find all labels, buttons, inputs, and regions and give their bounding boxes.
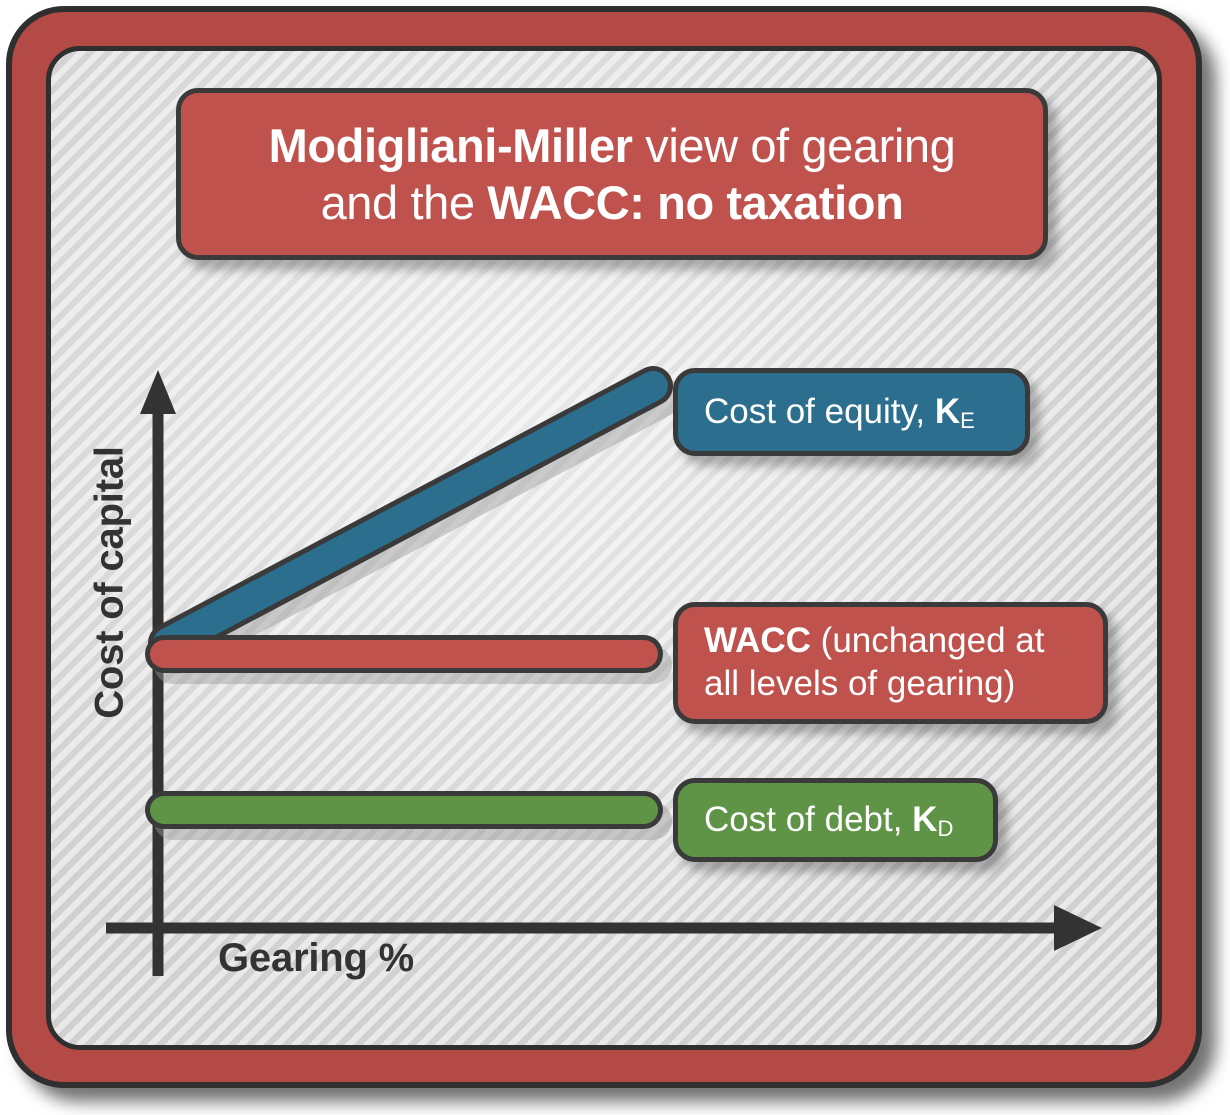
title-rest-1: view of gearing: [633, 119, 956, 172]
legend-cost-of-debt: Cost of debt, KD: [673, 778, 998, 862]
title-bold-1: Modigliani-Miller: [269, 119, 633, 172]
wacc-line-2: all levels of gearing): [704, 664, 1015, 703]
page-title: Modigliani-Miller view of gearing and th…: [269, 117, 956, 232]
equity-prefix: Cost of equity,: [704, 392, 935, 431]
x-axis-label: Gearing %: [218, 936, 414, 981]
legend-cost-of-equity-label: Cost of equity, KE: [704, 391, 975, 434]
title-bold-2: WACC: no taxation: [487, 176, 903, 229]
debt-prefix: Cost of debt,: [704, 800, 912, 839]
wacc-bold: WACC: [704, 621, 811, 660]
debt-symbol: K: [912, 800, 937, 839]
title-banner: Modigliani-Miller view of gearing and th…: [176, 88, 1048, 260]
legend-wacc-label: WACC (unchanged at all levels of gearing…: [704, 620, 1044, 705]
equity-subscript: E: [960, 408, 975, 433]
wacc-rest-1: (unchanged at: [811, 621, 1045, 660]
title-rest-2: and the: [321, 176, 488, 229]
diagram-canvas: Modigliani-Miller view of gearing and th…: [0, 0, 1230, 1115]
equity-symbol: K: [935, 392, 960, 431]
debt-subscript: D: [937, 816, 953, 841]
legend-cost-of-equity: Cost of equity, KE: [673, 368, 1030, 456]
legend-wacc: WACC (unchanged at all levels of gearing…: [673, 602, 1108, 724]
y-axis-label: Cost of capital: [88, 433, 133, 733]
legend-cost-of-debt-label: Cost of debt, KD: [704, 799, 953, 842]
